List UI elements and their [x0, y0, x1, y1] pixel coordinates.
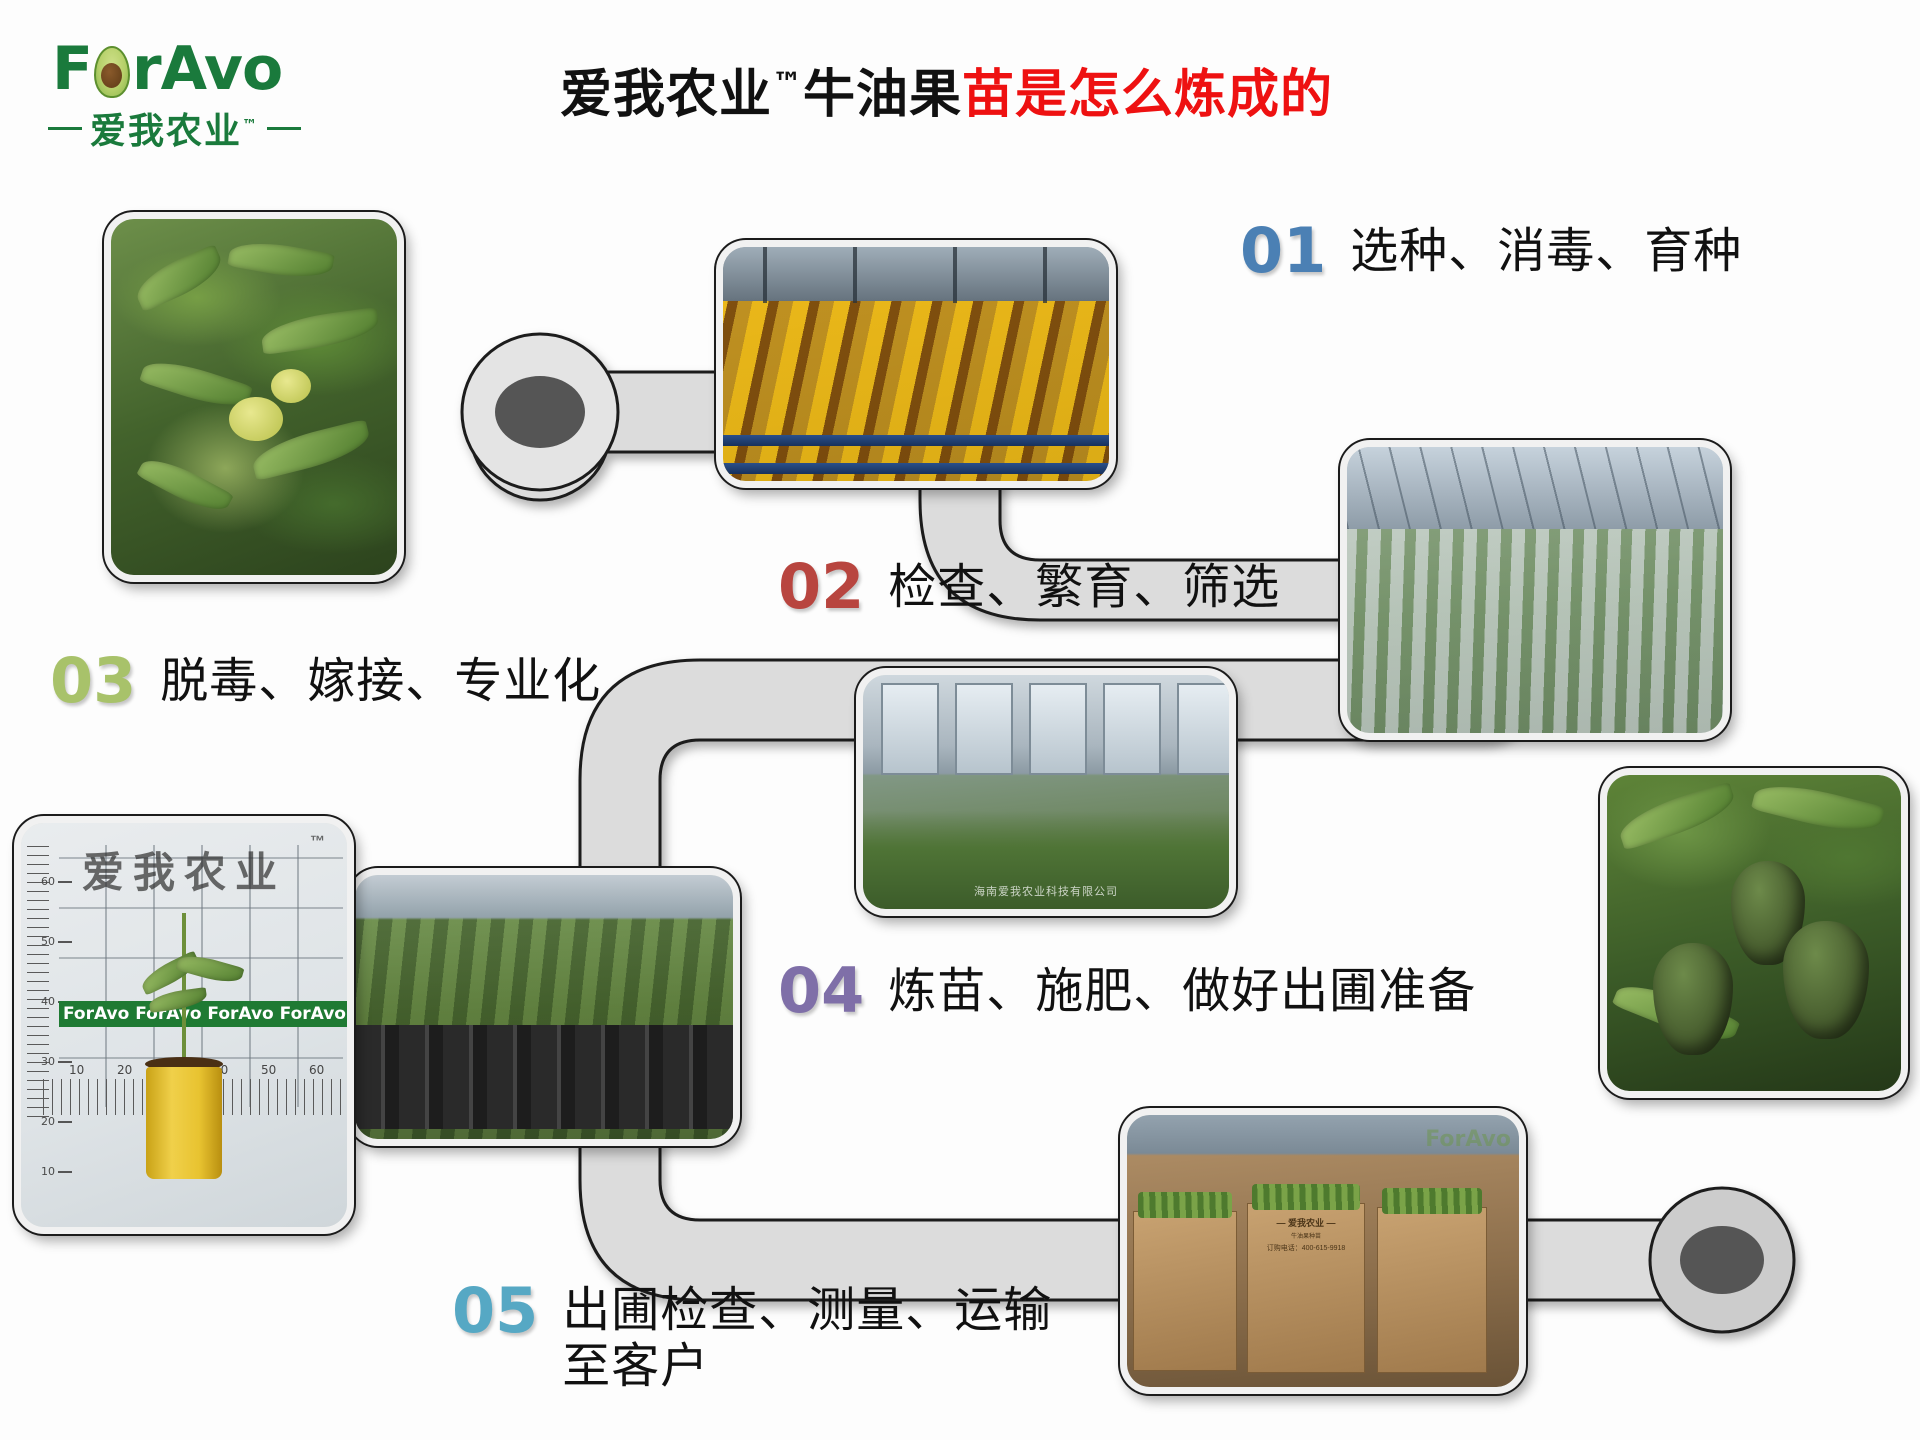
photo-watermark: 爱我农业 — [82, 839, 286, 900]
photo-seedling-measurement-ruler: 爱我农业 ™ 60 50 40 30 20 10 ForAvo ForAvo F… — [14, 816, 354, 1234]
step-label-01: 01 选种、消毒、育种 — [1240, 222, 1742, 280]
avocado-fruit — [1783, 921, 1869, 1039]
logo-chinese-name: 爱我农业™ — [90, 102, 259, 154]
leaf-shape — [1615, 781, 1740, 850]
logo-letter-f: F — [52, 34, 92, 104]
box-watermark: ForAvo — [1425, 1127, 1511, 1152]
photo-researchers-inspecting-seedlings: 海南爱我农业科技有限公司 — [856, 668, 1236, 916]
photo-image — [1347, 447, 1723, 733]
roof-beam — [953, 247, 957, 303]
title-highlight: 苗是怎么炼成的 — [962, 65, 1333, 125]
ruler-tick-label: 60 — [41, 875, 55, 888]
logo-letters-ravo: rAvo — [132, 34, 282, 104]
step-text-line2: 至客户 — [562, 1338, 1052, 1394]
brand-logo: F rAvo 爱我农业™ — [46, 38, 336, 148]
box-label: — 爱我农业 — 牛油果种苗 订购电话：400-615-9918 — [1267, 1216, 1346, 1253]
seedling-greens — [1138, 1192, 1232, 1218]
ruler-tick-label: 20 — [117, 1063, 132, 1077]
step-number: 02 — [778, 558, 864, 616]
photo-avocado-fruit-on-tree — [1600, 768, 1908, 1098]
leaf-shape — [259, 307, 380, 355]
title-mid: 牛油果 — [803, 65, 962, 125]
shipping-box — [1377, 1207, 1487, 1373]
ruler-tick-label: 10 — [41, 1165, 55, 1178]
step-number: 03 — [50, 652, 136, 710]
tray-rail — [723, 435, 1109, 446]
yellow-pot — [146, 1067, 222, 1179]
greenhouse-window — [1103, 683, 1161, 775]
step-text-line1: 出圃检查、测量、运输 — [562, 1282, 1052, 1338]
seedling-greens — [1252, 1184, 1360, 1210]
ruler-tick-label: 40 — [41, 995, 55, 1008]
photo-image: 爱我农业 ™ 60 50 40 30 20 10 ForAvo ForAvo F… — [21, 823, 347, 1227]
pot-row — [355, 1075, 733, 1129]
step-text: 选种、消毒、育种 — [1350, 222, 1742, 280]
flower-cluster — [271, 369, 311, 403]
photo-nursery-potted-seedlings — [348, 868, 740, 1146]
infographic-canvas: F rAvo 爱我农业™ 爱我农业™牛油果苗是怎么炼成的 — [0, 0, 1920, 1440]
photo-image — [1607, 775, 1901, 1091]
avocado-pit-shape — [101, 63, 122, 88]
box-product-text: 牛油果种苗 — [1267, 1231, 1346, 1240]
logo-tm: ™ — [242, 116, 259, 134]
photo-avocado-flowering-branch — [104, 212, 404, 582]
step-number: 04 — [778, 962, 864, 1020]
photo-watermark: 海南爱我农业科技有限公司 — [974, 883, 1118, 899]
step-number: 05 — [452, 1282, 538, 1340]
photo-image — [723, 247, 1109, 481]
ruler-tick-label: 50 — [261, 1063, 276, 1077]
step-text-block: 出圃检查、测量、运输 至客户 — [562, 1282, 1052, 1394]
roof-beam — [853, 247, 857, 303]
title-tm: ™ — [772, 67, 803, 102]
photo-image: 海南爱我农业科技有限公司 — [863, 675, 1229, 909]
ruler-tick-label: 60 — [309, 1063, 324, 1077]
step-label-03: 03 脱毒、嫁接、专业化 — [50, 652, 601, 710]
roof-beam — [1043, 247, 1047, 303]
logo-rule-left — [48, 127, 82, 130]
box-phone-text: 订购电话：400-615-9918 — [1267, 1243, 1346, 1253]
tray-rail — [723, 463, 1109, 474]
step-text: 炼苗、施肥、做好出圃准备 — [888, 962, 1476, 1020]
logo-wordmark: F rAvo — [46, 38, 336, 100]
shipping-box: — 爱我农业 — 牛油果种苗 订购电话：400-615-9918 — [1247, 1203, 1365, 1373]
photo-greenhouse-seed-trays — [716, 240, 1116, 488]
step-label-05: 05 出圃检查、测量、运输 至客户 — [452, 1282, 1052, 1394]
step-label-04: 04 炼苗、施肥、做好出圃准备 — [778, 962, 1476, 1020]
ruler-tick-label: 50 — [41, 935, 55, 948]
flow-end-knob-core — [1680, 1226, 1764, 1294]
roof-beam — [763, 247, 767, 303]
step-label-02: 02 检查、繁育、筛选 — [778, 558, 1280, 616]
seedling-greens — [1382, 1188, 1482, 1214]
step-text: 检查、繁育、筛选 — [888, 558, 1280, 616]
greenhouse-window — [955, 683, 1013, 775]
photo-image: — 爱我农业 — 牛油果种苗 订购电话：400-615-9918 ForAvo — [1127, 1115, 1519, 1387]
avocado-icon — [90, 44, 134, 98]
flow-end-knob — [1650, 1188, 1794, 1332]
step-text: 脱毒、嫁接、专业化 — [160, 652, 601, 710]
pot-row — [355, 1025, 733, 1079]
ruler-tick-label: 30 — [41, 1055, 55, 1068]
flow-start-knob — [462, 334, 618, 490]
leaf-shape — [1751, 776, 1885, 840]
flower-cluster — [229, 397, 283, 441]
box-brand-text: — 爱我农业 — — [1267, 1216, 1346, 1229]
leaf-shape — [130, 244, 228, 312]
greenhouse-roof-structure — [1347, 447, 1723, 529]
ruler-tick-label: 20 — [41, 1115, 55, 1128]
seedling-stem — [182, 913, 186, 1063]
leaf-shape — [227, 236, 335, 284]
greenhouse-window — [1029, 683, 1087, 775]
photo-image — [111, 219, 397, 575]
foravo-banner-text: ForAvo ForAvo ForAvo ForAvo — [59, 1004, 346, 1024]
title-main: 爱我农业 — [560, 65, 772, 125]
photo-watermark-tm: ™ — [310, 833, 325, 850]
logo-rule-right — [267, 127, 301, 130]
greenhouse-window — [1177, 683, 1229, 775]
leaf-shape — [136, 450, 234, 520]
shipping-box — [1133, 1211, 1237, 1371]
photo-packed-shipping-boxes: — 爱我农业 — 牛油果种苗 订购电话：400-615-9918 ForAvo — [1120, 1108, 1526, 1394]
greenhouse-window — [881, 683, 939, 775]
flow-ribbon-path — [470, 360, 610, 500]
step-number: 01 — [1240, 222, 1326, 280]
logo-subtitle-row: 爱我农业™ — [46, 102, 336, 154]
greenhouse-roof — [723, 247, 1109, 301]
page-title: 爱我农业™牛油果苗是怎么炼成的 — [560, 52, 1333, 127]
photo-image — [355, 875, 733, 1139]
flow-start-knob-core — [495, 376, 585, 448]
photo-greenhouse-bagged-plants — [1340, 440, 1730, 740]
ruler-tick-label: 10 — [69, 1063, 84, 1077]
foravo-banner: ForAvo ForAvo ForAvo ForAvo — [59, 1001, 347, 1027]
